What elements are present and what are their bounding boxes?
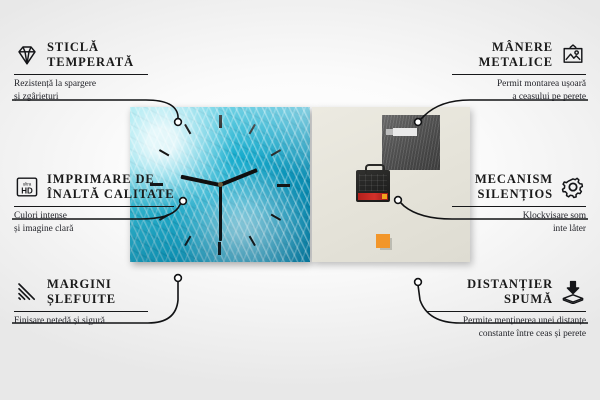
callout-title: STICLĂ TEMPERATĂ (47, 40, 134, 71)
callout-title: MÂNERE METALICE (479, 40, 553, 71)
hd-badge-big: HD (21, 187, 33, 196)
clock-tick (220, 149, 282, 186)
clock-tick (220, 184, 282, 221)
foam-spacer-pad (376, 234, 390, 248)
picture-hanger-icon (560, 43, 586, 67)
polished-edges-icon (14, 280, 40, 304)
callout-rule (426, 311, 586, 313)
callout-desc: Permit montarea ușoară a ceasului pe per… (390, 78, 586, 103)
mechanism-hook (365, 164, 385, 174)
callout-tempered-glass: STICLĂ TEMPERATĂ Rezistență la spargere … (14, 40, 210, 103)
callout-foam-spacer: DISTANȚIER SPUMĂ Permite menținerea unei… (390, 277, 586, 340)
callout-rule (14, 311, 148, 313)
callout-rule (452, 74, 586, 76)
callout-title: DISTANȚIER SPUMĂ (467, 277, 553, 308)
callout-polished-edges: MARGINI ȘLEFUITE Finisare netedă și sigu… (14, 277, 210, 328)
callout-rule (14, 74, 148, 76)
callout-high-quality-print: ultra HD IMPRIMARE DE ÎNALTĂ CALITATE Cu… (14, 172, 210, 235)
callout-desc: Rezistență la spargere și zgârieturi (14, 78, 210, 103)
callout-metal-hangers: MÂNERE METALICE Permit montarea ușoară a… (390, 40, 586, 103)
clock-mechanism (356, 170, 390, 202)
callout-title: MECANISM SILENȚIOS (475, 172, 553, 203)
callout-title: IMPRIMARE DE ÎNALTĂ CALITATE (47, 172, 175, 203)
clock-tick (219, 115, 221, 185)
callout-desc: Klockvisare som inte låter (390, 210, 586, 235)
callout-desc: Culori intense și imagine clară (14, 210, 210, 235)
clock-tick (219, 184, 256, 246)
mechanism-body (359, 174, 387, 191)
callout-desc: Finisare netedă și sigură (14, 315, 210, 328)
callout-head: MÂNERE METALICE (390, 40, 586, 71)
clock-tick (220, 184, 290, 186)
callout-rule (452, 206, 586, 208)
ultra-hd-icon: ultra HD (14, 175, 40, 199)
clock-tick (219, 123, 256, 185)
metal-hanger-plate (382, 115, 440, 170)
clock-hour-hand (219, 168, 258, 187)
callout-head: DISTANȚIER SPUMĂ (390, 277, 586, 308)
callout-head: STICLĂ TEMPERATĂ (14, 40, 210, 71)
infographic-canvas: STICLĂ TEMPERATĂ Rezistență la spargere … (0, 0, 600, 400)
callout-title: MARGINI ȘLEFUITE (47, 277, 116, 308)
clock-tick (219, 185, 221, 255)
callout-rule (14, 206, 174, 208)
battery (358, 193, 388, 200)
clock-center-cap (218, 182, 223, 187)
gear-icon (560, 175, 586, 199)
clock-minute-hand (219, 185, 222, 241)
callout-head: MARGINI ȘLEFUITE (14, 277, 210, 308)
foam-spacer-icon (560, 280, 586, 304)
callout-head: ultra HD IMPRIMARE DE ÎNALTĂ CALITATE (14, 172, 210, 203)
callout-silent-mechanism: MECANISM SILENȚIOS Klockvisare som inte … (390, 172, 586, 235)
callout-head: MECANISM SILENȚIOS (390, 172, 586, 203)
callout-desc: Permite menținerea unei distanțe constan… (390, 315, 586, 340)
diamond-icon (14, 43, 40, 67)
